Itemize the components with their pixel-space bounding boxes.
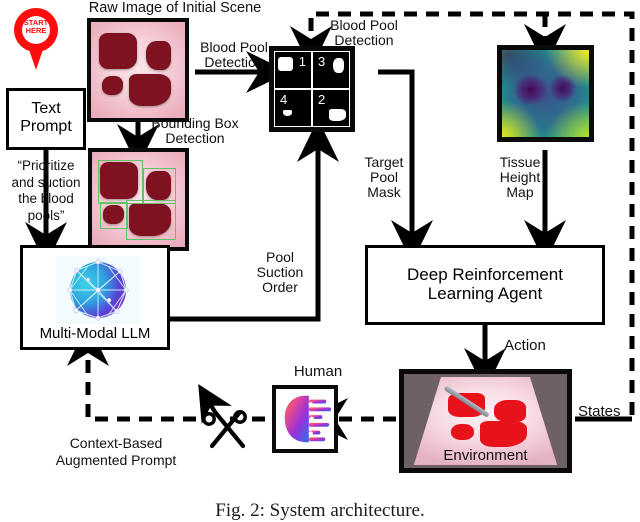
mask-blob	[333, 58, 344, 72]
edge-label-context-augmented-prompt: Context-Based Augmented Prompt	[28, 435, 204, 468]
edge-label-pool-suction-order: Pool Suction Order	[244, 250, 316, 295]
text-prompt-label: Text Prompt	[9, 100, 83, 135]
human-title: Human	[272, 364, 364, 380]
system-architecture-diagram: START HERE Raw Image of Initial Scene Bl…	[0, 0, 640, 518]
environment-image: Environment	[399, 369, 572, 473]
bounding-box	[100, 202, 128, 229]
blood-pool	[480, 421, 527, 448]
cut-terminal-left	[204, 414, 214, 424]
deep-rl-agent-label: Deep Reinforcement Learning Agent	[368, 266, 602, 303]
quadrant-number: 3	[318, 55, 325, 68]
edge-label-action: Action	[494, 338, 556, 354]
mask-quadrant-4: 4	[274, 89, 312, 127]
blood-pool	[102, 76, 123, 95]
blood-pool	[451, 424, 474, 440]
mask-quadrant-1: 1	[274, 51, 312, 89]
prompt-quote-text: “Prioritize and suction the blood pools”	[0, 158, 92, 225]
edge-label-tissue-height-map: Tissue Height Map	[487, 155, 553, 200]
tissue-surface	[92, 152, 185, 247]
target-pool-mask-image: 1 3 4 2	[269, 46, 355, 132]
bounding-box	[98, 160, 144, 205]
height-region	[502, 50, 550, 89]
pin-label: START HERE	[14, 19, 58, 36]
cut-terminal-right	[235, 412, 245, 422]
blood-pool	[146, 41, 171, 70]
mask-blob	[329, 109, 346, 121]
llm-mesh-sphere-icon	[54, 256, 142, 324]
blood-pool	[129, 74, 171, 107]
figure-caption: Fig. 2: System architecture.	[0, 500, 640, 522]
edge-label-blood-pool-detection-feedback: Blood Pool Detection	[318, 18, 410, 48]
llm-label: Multi-Modal LLM	[23, 326, 167, 343]
mask-blob	[278, 57, 292, 71]
quadrant-number: 4	[280, 93, 287, 106]
mask-blob	[283, 110, 292, 116]
height-region	[547, 102, 589, 137]
quadrant-mask: 1 3 4 2	[274, 51, 350, 127]
deep-rl-agent-box: Deep Reinforcement Learning Agent	[365, 245, 605, 325]
height-map-colormap	[502, 50, 589, 137]
edge-label-target-pool-mask: Target Pool Mask	[352, 155, 416, 200]
bounding-box	[143, 168, 176, 204]
bounding-box-scene-image	[88, 148, 189, 251]
raw-scene-image	[87, 18, 189, 122]
tissue-surface	[91, 22, 185, 118]
height-region	[502, 100, 541, 137]
height-region	[547, 50, 589, 87]
environment-label: Environment	[404, 447, 567, 464]
blood-pool	[494, 400, 526, 422]
human-head-icon	[276, 389, 334, 449]
scissors-icon	[209, 402, 243, 446]
tissue-height-map-image	[497, 45, 594, 142]
mask-quadrant-3: 3	[312, 51, 350, 89]
blood-pool	[99, 33, 137, 69]
quadrant-number: 2	[318, 93, 325, 106]
quadrant-number: 1	[299, 55, 306, 68]
multi-modal-llm-box: Multi-Modal LLM	[20, 245, 170, 350]
edge-label-states: States	[578, 404, 634, 420]
text-prompt-box: Text Prompt	[6, 88, 86, 150]
simulation-view: Environment	[404, 374, 567, 468]
bounding-box	[126, 200, 175, 240]
start-here-pin: START HERE	[14, 8, 58, 70]
mask-quadrant-2: 2	[312, 89, 350, 127]
raw-scene-title: Raw Image of Initial Scene	[60, 1, 290, 17]
human-image	[272, 385, 338, 453]
edge-label-bounding-box-detection: Bounding Box Detection	[143, 116, 247, 146]
edge-label-blood-pool-detection: Blood Pool Detection	[190, 40, 278, 70]
